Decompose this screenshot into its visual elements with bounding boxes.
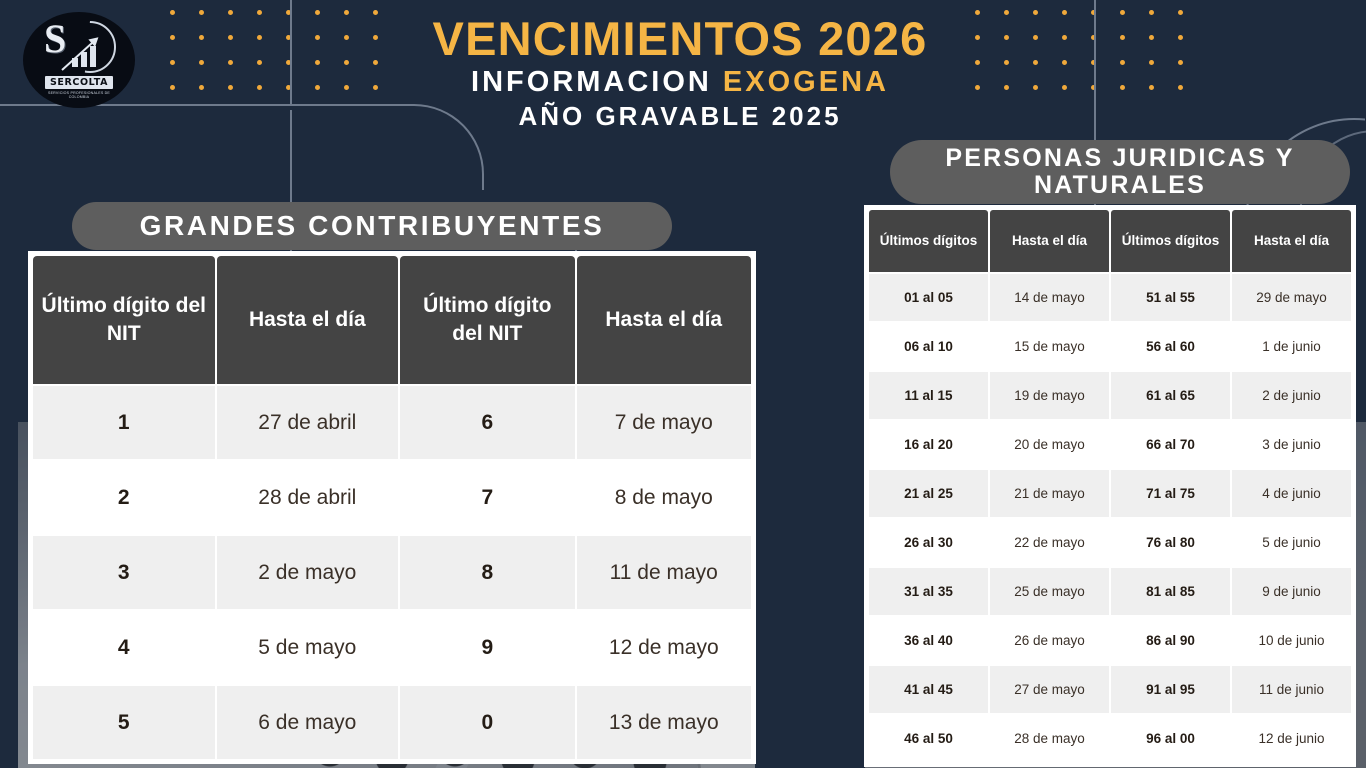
- decorative-dot: [170, 60, 175, 65]
- cell-due-date: 28 de mayo: [990, 715, 1109, 762]
- decorative-dot: [1004, 35, 1009, 40]
- decorative-dot: [373, 60, 378, 65]
- vertical-line-decoration-1: [290, 0, 292, 104]
- page-title: VENCIMIENTOS 2026: [400, 14, 960, 64]
- cell-nit-digit: 6: [400, 386, 574, 459]
- cell-digit-range: 26 al 30: [869, 519, 988, 566]
- background-mask-left: [0, 420, 18, 768]
- table-header-row: Último dígito del NIT Hasta el día Últim…: [33, 256, 751, 384]
- column-header: Último dígito del NIT: [33, 256, 215, 384]
- decorative-dot: [1120, 35, 1125, 40]
- cell-digit-range: 31 al 35: [869, 568, 988, 615]
- column-header: Hasta el día: [990, 210, 1109, 272]
- cell-due-date: 9 de junio: [1232, 568, 1351, 615]
- cell-digit-range: 11 al 15: [869, 372, 988, 419]
- cell-digit-range: 71 al 75: [1111, 470, 1230, 517]
- cell-due-date: 27 de mayo: [990, 666, 1109, 713]
- cell-digit-range: 91 al 95: [1111, 666, 1230, 713]
- decorative-dot: [373, 10, 378, 15]
- cell-due-date: 20 de mayo: [990, 421, 1109, 468]
- decorative-dot: [315, 60, 320, 65]
- cell-due-date: 11 de mayo: [577, 536, 751, 609]
- decorative-dot: [975, 60, 980, 65]
- cell-digit-range: 81 al 85: [1111, 568, 1230, 615]
- decorative-dot: [1004, 60, 1009, 65]
- cell-due-date: 19 de mayo: [990, 372, 1109, 419]
- column-header: Últimos dígitos: [869, 210, 988, 272]
- cell-digit-range: 46 al 50: [869, 715, 988, 762]
- column-header: Hasta el día: [217, 256, 399, 384]
- cell-digit-range: 96 al 00: [1111, 715, 1230, 762]
- section-label-grandes-contribuyentes: GRANDES CONTRIBUYENTES: [72, 202, 672, 250]
- decorative-dot: [1062, 35, 1067, 40]
- cell-due-date: 15 de mayo: [990, 323, 1109, 370]
- column-header: Último dígito del NIT: [400, 256, 574, 384]
- decorative-dot: [1062, 85, 1067, 90]
- logo-tagline-line-2: COLOMBIA: [69, 95, 90, 99]
- cell-due-date: 4 de junio: [1232, 470, 1351, 517]
- decorative-dot: [1149, 85, 1154, 90]
- page-subtitle-line-2: AÑO GRAVABLE 2025: [400, 100, 960, 134]
- decorative-dot: [1149, 35, 1154, 40]
- table-row: 01 al 0514 de mayo51 al 5529 de mayo: [869, 274, 1351, 321]
- cell-nit-digit: 3: [33, 536, 215, 609]
- decorative-dot: [257, 10, 262, 15]
- cell-due-date: 2 de mayo: [217, 536, 399, 609]
- cell-digit-range: 76 al 80: [1111, 519, 1230, 566]
- decorative-dot: [228, 10, 233, 15]
- decorative-dot: [315, 10, 320, 15]
- decorative-dot: [1062, 60, 1067, 65]
- decorative-dot: [1149, 10, 1154, 15]
- grandes-contribuyentes-table-frame: Último dígito del NIT Hasta el día Últim…: [28, 251, 756, 764]
- personas-juridicas-naturales-table: Últimos dígitos Hasta el día Últimos díg…: [867, 208, 1353, 764]
- cell-nit-digit: 2: [33, 461, 215, 534]
- decorative-dot: [1149, 60, 1154, 65]
- cell-nit-digit: 8: [400, 536, 574, 609]
- dot-grid-left-decoration: [170, 10, 378, 90]
- table-row: 46 al 5028 de mayo96 al 0012 de junio: [869, 715, 1351, 762]
- table-row: 1 27 de abril 6 7 de mayo: [33, 386, 751, 459]
- table-row: 2 28 de abril 7 8 de mayo: [33, 461, 751, 534]
- decorative-dot: [1004, 85, 1009, 90]
- page-subtitle: INFORMACION EXOGENA: [400, 64, 960, 100]
- decorative-dot: [373, 85, 378, 90]
- column-header: Últimos dígitos: [1111, 210, 1230, 272]
- cell-nit-digit: 4: [33, 611, 215, 684]
- table-body: 01 al 0514 de mayo51 al 5529 de mayo06 a…: [869, 274, 1351, 762]
- cell-due-date: 12 de junio: [1232, 715, 1351, 762]
- decorative-dot: [199, 85, 204, 90]
- table-row: 36 al 4026 de mayo86 al 9010 de junio: [869, 617, 1351, 664]
- table-row: 3 2 de mayo 8 11 de mayo: [33, 536, 751, 609]
- dot-grid-right-decoration: [975, 10, 1183, 90]
- decorative-dot: [1178, 85, 1183, 90]
- cell-digit-range: 61 al 65: [1111, 372, 1230, 419]
- page-subtitle-prefix: INFORMACION: [471, 66, 723, 98]
- table-row: 11 al 1519 de mayo61 al 652 de junio: [869, 372, 1351, 419]
- cell-digit-range: 01 al 05: [869, 274, 988, 321]
- decorative-dot: [1033, 60, 1038, 65]
- decorative-dot: [1033, 35, 1038, 40]
- cell-digit-range: 51 al 55: [1111, 274, 1230, 321]
- decorative-dot: [1120, 60, 1125, 65]
- decorative-dot: [228, 85, 233, 90]
- vertical-line-decoration-3: [1094, 0, 1096, 145]
- table-row: 16 al 2020 de mayo66 al 703 de junio: [869, 421, 1351, 468]
- decorative-dot: [344, 35, 349, 40]
- cell-digit-range: 41 al 45: [869, 666, 988, 713]
- cell-nit-digit: 7: [400, 461, 574, 534]
- decorative-dot: [344, 60, 349, 65]
- cell-nit-digit: 1: [33, 386, 215, 459]
- cell-digit-range: 66 al 70: [1111, 421, 1230, 468]
- decorative-dot: [199, 10, 204, 15]
- cell-nit-digit: 9: [400, 611, 574, 684]
- cell-due-date: 1 de junio: [1232, 323, 1351, 370]
- logo-graphic-chart-arrow: S: [40, 21, 118, 75]
- decorative-dot: [344, 85, 349, 90]
- column-header: Hasta el día: [577, 256, 751, 384]
- cell-digit-range: 36 al 40: [869, 617, 988, 664]
- decorative-dot: [199, 35, 204, 40]
- cell-due-date: 13 de mayo: [577, 686, 751, 759]
- table-row: 4 5 de mayo 9 12 de mayo: [33, 611, 751, 684]
- decorative-dot: [1120, 10, 1125, 15]
- decorative-dot: [257, 60, 262, 65]
- cell-due-date: 21 de mayo: [990, 470, 1109, 517]
- cell-due-date: 5 de mayo: [217, 611, 399, 684]
- cell-due-date: 25 de mayo: [990, 568, 1109, 615]
- cell-due-date: 6 de mayo: [217, 686, 399, 759]
- cell-due-date: 27 de abril: [217, 386, 399, 459]
- personas-juridicas-naturales-table-frame: Últimos dígitos Hasta el día Últimos díg…: [864, 205, 1356, 767]
- decorative-dot: [170, 85, 175, 90]
- decorative-dot: [1178, 35, 1183, 40]
- table-row: 41 al 4527 de mayo91 al 9511 de junio: [869, 666, 1351, 713]
- cell-nit-digit: 0: [400, 686, 574, 759]
- decorative-dot: [373, 35, 378, 40]
- table-body: 1 27 de abril 6 7 de mayo 2 28 de abril …: [33, 386, 751, 759]
- cell-digit-range: 06 al 10: [869, 323, 988, 370]
- decorative-dot: [344, 10, 349, 15]
- table-row: 26 al 3022 de mayo76 al 805 de junio: [869, 519, 1351, 566]
- cell-digit-range: 16 al 20: [869, 421, 988, 468]
- table-row: 31 al 3525 de mayo81 al 859 de junio: [869, 568, 1351, 615]
- cell-due-date: 14 de mayo: [990, 274, 1109, 321]
- cell-due-date: 26 de mayo: [990, 617, 1109, 664]
- decorative-dot: [1120, 85, 1125, 90]
- decorative-dot: [975, 10, 980, 15]
- decorative-dot: [975, 35, 980, 40]
- table-row: 06 al 1015 de mayo56 al 601 de junio: [869, 323, 1351, 370]
- decorative-dot: [1178, 60, 1183, 65]
- decorative-dot: [1004, 10, 1009, 15]
- decorative-dot: [228, 60, 233, 65]
- decorative-dot: [170, 10, 175, 15]
- grandes-contribuyentes-table: Último dígito del NIT Hasta el día Últim…: [31, 254, 753, 761]
- cell-due-date: 28 de abril: [217, 461, 399, 534]
- decorative-dot: [228, 35, 233, 40]
- decorative-dot: [170, 35, 175, 40]
- sercolta-logo: S SERCOLTA SERVICIOS PROFESIONALES DE CO…: [23, 12, 135, 108]
- cell-due-date: 11 de junio: [1232, 666, 1351, 713]
- cell-due-date: 12 de mayo: [577, 611, 751, 684]
- table-row: 21 al 2521 de mayo71 al 754 de junio: [869, 470, 1351, 517]
- header-title-block: VENCIMIENTOS 2026 INFORMACION EXOGENA AÑ…: [400, 14, 960, 134]
- cell-due-date: 8 de mayo: [577, 461, 751, 534]
- decorative-dot: [975, 85, 980, 90]
- decorative-dot: [1062, 10, 1067, 15]
- column-header: Hasta el día: [1232, 210, 1351, 272]
- decorative-dot: [1033, 85, 1038, 90]
- decorative-dot: [199, 60, 204, 65]
- background-mask-middle: [755, 420, 865, 768]
- decorative-dot: [315, 35, 320, 40]
- logo-brand-name: SERCOLTA: [45, 76, 113, 89]
- cell-due-date: 3 de junio: [1232, 421, 1351, 468]
- cell-nit-digit: 5: [33, 686, 215, 759]
- decorative-dot: [1178, 10, 1183, 15]
- table-row: 5 6 de mayo 0 13 de mayo: [33, 686, 751, 759]
- cell-digit-range: 56 al 60: [1111, 323, 1230, 370]
- decorative-dot: [1033, 10, 1038, 15]
- decorative-dot: [257, 35, 262, 40]
- page-subtitle-highlight: EXOGENA: [723, 66, 889, 98]
- cell-digit-range: 86 al 90: [1111, 617, 1230, 664]
- cell-due-date: 29 de mayo: [1232, 274, 1351, 321]
- section-label-personas-juridicas-naturales: PERSONAS JURIDICAS Y NATURALES: [890, 140, 1350, 204]
- cell-due-date: 7 de mayo: [577, 386, 751, 459]
- logo-letter-s: S: [44, 19, 66, 59]
- table-header-row: Últimos dígitos Hasta el día Últimos díg…: [869, 210, 1351, 272]
- cell-digit-range: 21 al 25: [869, 470, 988, 517]
- decorative-dot: [315, 85, 320, 90]
- cell-due-date: 5 de junio: [1232, 519, 1351, 566]
- cell-due-date: 22 de mayo: [990, 519, 1109, 566]
- cell-due-date: 10 de junio: [1232, 617, 1351, 664]
- decorative-dot: [257, 85, 262, 90]
- cell-due-date: 2 de junio: [1232, 372, 1351, 419]
